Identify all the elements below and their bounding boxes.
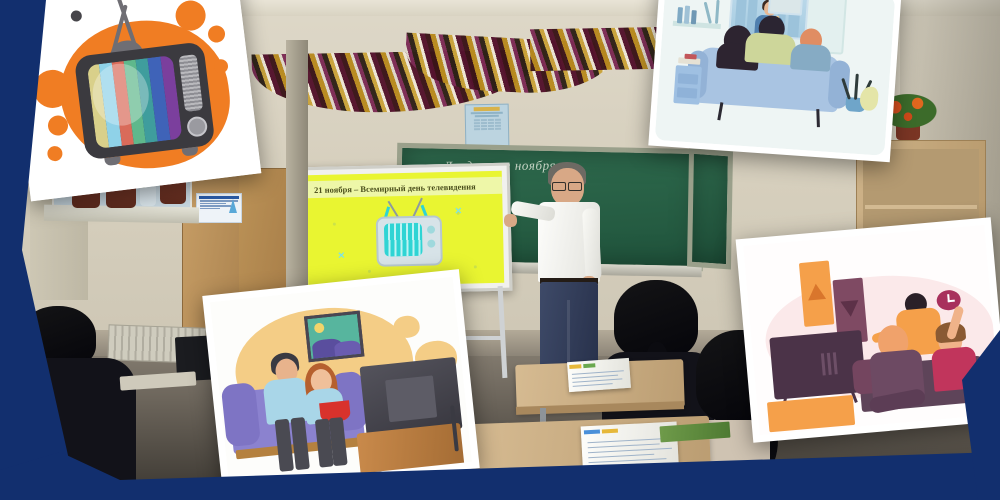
- tv-screen: [87, 55, 183, 149]
- tv-cabinet: [356, 423, 464, 478]
- nightstand: [673, 65, 702, 105]
- person-body: [744, 32, 796, 65]
- wall-chart-poster: [465, 104, 510, 149]
- projector-slide: 21 ноября – Всемирный день телевидения ✕…: [306, 171, 504, 287]
- books: [691, 10, 697, 24]
- safety-information-poster: [196, 193, 242, 223]
- card-retro-tv: [7, 0, 262, 201]
- wall-frame-small: [768, 0, 804, 16]
- slide-retro-tv-icon: [367, 199, 442, 263]
- sofa-cushion: [221, 382, 261, 447]
- potted-plant: [981, 344, 1000, 386]
- person-body: [931, 346, 978, 392]
- book-on-nightstand: [684, 54, 696, 60]
- tv-screen-back: [385, 375, 437, 422]
- slide-title-text: 21 ноября – Всемирный день телевидения: [306, 181, 476, 195]
- ikat-fabric-panel: [530, 27, 671, 71]
- sofa-leg: [816, 109, 820, 127]
- slide-title-band: 21 ноября – Всемирный день телевидения: [306, 177, 502, 198]
- chalkboard-side-panel: [687, 148, 733, 269]
- wall-art-orange: [799, 261, 834, 327]
- card-couple-popcorn: [202, 269, 479, 495]
- plant-pot: [980, 381, 1000, 410]
- student-left: [0, 300, 130, 500]
- wall-picture-frame: [304, 311, 365, 363]
- card-family-watching-news: [648, 0, 901, 162]
- person-body: [790, 43, 832, 72]
- open-notebook-back: [567, 358, 631, 392]
- card-friends-cheering: [736, 217, 1000, 443]
- collage-canvas: Двадцатое ноября 21 ноября – Всемирный д…: [0, 0, 1000, 500]
